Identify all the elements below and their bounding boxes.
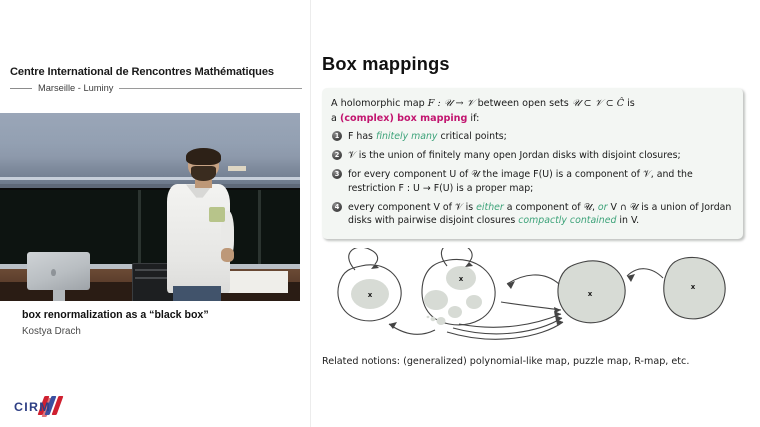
video-player[interactable] [0,113,300,301]
intro-map: F : 𝒰 → 𝒱 [428,98,475,109]
blob-2-disk-6 [431,317,436,321]
intro-part2: between open sets [475,98,572,109]
bullet-number-2: 2 [332,150,342,160]
intro-line2a: a [331,113,340,124]
slide-page: Centre International de Rencontres Mathé… [0,0,760,427]
blob-2-disk-4 [448,306,462,318]
speaker-badge [209,207,226,222]
logo-wordmark: CIRM [14,400,51,414]
blob-3-cross-label: x [588,290,593,298]
wall-object [228,166,246,172]
definition-intro: A holomorphic map F : 𝒰 → 𝒱 between open… [331,96,734,126]
condition-4-text-a: every component V of 𝒱 is [348,202,476,213]
page-title: Box mappings [322,54,450,75]
blob-2-cross-label: x [459,275,464,283]
condition-1-text-a: F has [348,131,376,142]
diagram-svg: x x x x [331,248,741,343]
lecture-hall-wall [0,113,300,184]
condition-1-emphasis: finitely many [376,131,438,142]
speaker-trousers [173,286,221,301]
blob-4-cross-label: x [691,283,696,291]
condition-3-text: for every component U of 𝒰 the image F(U… [348,169,693,194]
intro-part1: A holomorphic map [331,98,428,109]
condition-2-text: 𝒱 is the union of finitely many open Jor… [348,150,681,161]
apple-logo-icon [51,269,56,276]
arrow-fan-1 [501,302,561,310]
condition-item-4: 4 every component V of 𝒱 is either a com… [331,201,734,228]
related-notions: Related notions: (generalized) polynomia… [322,356,689,367]
intro-sets: 𝒰 ⊂ 𝒱 ⊂ Ĉ [572,98,624,109]
condition-4-text-d: in V. [616,215,639,226]
desk-papers [222,271,288,294]
rule-right [119,88,302,89]
imac-stand [53,290,65,301]
blob-2-disk-2 [424,290,448,310]
cirm-logo[interactable]: CIRM [14,396,74,418]
arrow-3-to-2 [507,275,559,284]
intro-part3: is [624,98,635,109]
intro-line2b: if: [467,113,479,124]
condition-1-text-b: critical points; [437,131,506,142]
blob-2-disk-5 [437,317,446,325]
arrow-2-to-1 [389,324,435,334]
bullet-number-3: 3 [332,169,342,179]
condition-4-emphasis-or: or [598,202,608,213]
definition-callout: A holomorphic map F : 𝒰 → 𝒱 between open… [322,88,743,239]
institution-location: Marseille - Luminy [38,83,113,93]
blackboard-seam-right [258,190,261,265]
box-mapping-diagram: x x x x [331,248,741,343]
talk-title: box renormalization as a “black box” [22,309,209,321]
box-mapping-term: (complex) box mapping [340,113,467,124]
left-panel: Centre International de Rencontres Mathé… [0,0,310,427]
condition-4-text-b: a component of 𝒰, [504,202,598,213]
wall-rail-lower [0,184,300,188]
blob-2-disk-3 [466,295,482,309]
condition-item-2: 2 𝒱 is the union of finitely many open J… [331,149,734,163]
imac-monitor [27,252,90,290]
blackboard-seam-left [138,190,141,265]
blob-2-disk-7 [427,316,430,318]
blob-1-cross-label: x [368,291,373,299]
condition-item-3: 3 for every component U of 𝒰 the image F… [331,168,734,195]
speaker-hand [221,248,235,261]
bullet-number-4: 4 [332,202,342,212]
condition-item-1: 1 F has finitely many critical points; [331,130,734,144]
speaker-name: Kostya Drach [22,326,81,337]
institution-subtitle-row: Marseille - Luminy [10,83,302,93]
conditions-list: 1 F has finitely many critical points; 2… [331,130,734,228]
wall-rail-upper [0,177,300,180]
bullet-number-1: 1 [332,131,342,141]
institution-header: Centre International de Rencontres Mathé… [10,66,302,93]
speaker-hair [186,148,221,165]
institution-name: Centre International de Rencontres Mathé… [10,66,302,78]
speaker-beard [191,166,217,181]
presentation-slide: Box mappings A holomorphic map F : 𝒰 → 𝒱… [311,0,760,427]
condition-4-emphasis-compactly: compactly contained [518,215,616,226]
condition-4-emphasis-either: either [476,202,504,213]
rule-left [10,88,32,89]
